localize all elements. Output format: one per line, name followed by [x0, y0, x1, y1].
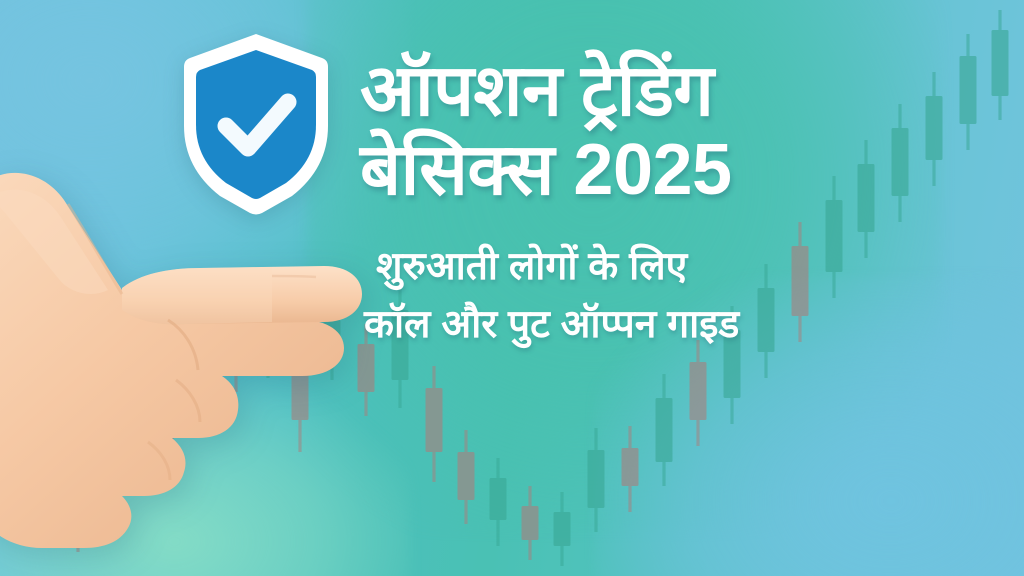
poster-canvas: ऑपशन ट्रेडिंग बेसिक्स 2025 शुरुआती लोगों… [0, 0, 1024, 576]
subhead-line-2: कॉल और पुट ऑप्पन गाइड [360, 296, 960, 354]
pointing-hand-icon [0, 170, 372, 576]
text-block: ऑपशन ट्रेडिंग बेसिक्स 2025 शुरुआती लोगों… [360, 52, 960, 354]
page-subtitle: शुरुआती लोगों के लिए कॉल और पुट ऑप्पन गा… [360, 238, 960, 353]
headline-line-2: बेसिक्स 2025 [360, 131, 960, 210]
page-title: ऑपशन ट्रेडिंग बेसिक्स 2025 [360, 52, 960, 210]
subhead-line-1: शुरुआती लोगों के लिए [360, 238, 960, 296]
headline-line-1: ऑपशन ट्रेडिंग [360, 51, 713, 131]
